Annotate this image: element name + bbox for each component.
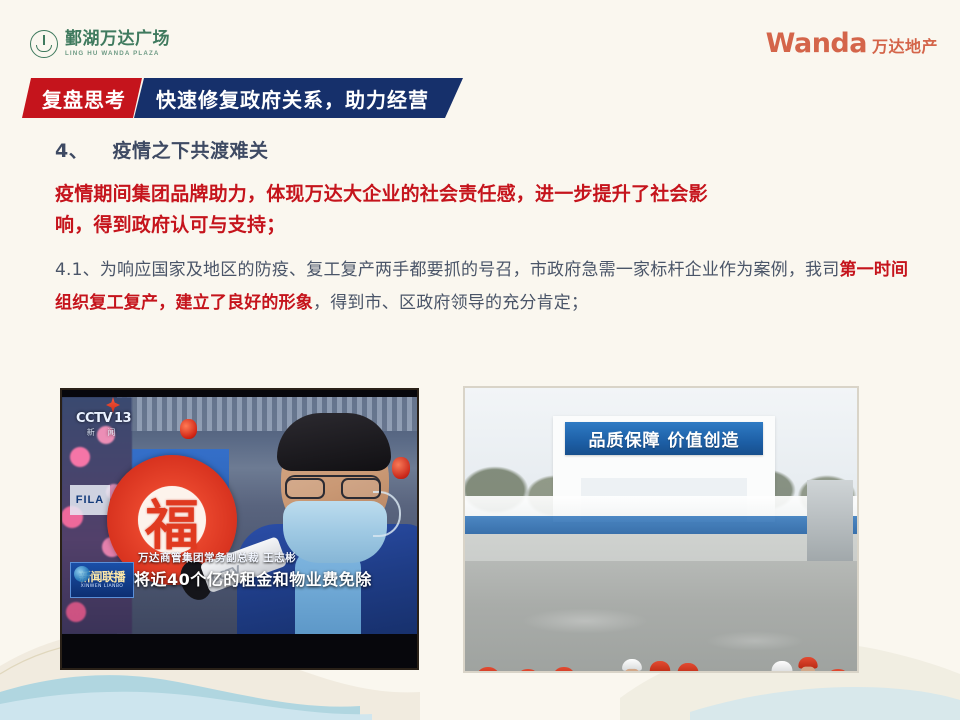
red-hard-hat-icon xyxy=(650,661,670,673)
wanda-logo: Wanda 万达地产 xyxy=(766,28,938,59)
interviewee-glasses xyxy=(285,475,381,496)
interviewee-hair xyxy=(277,413,391,471)
wanda-logo-en: Wanda xyxy=(766,28,867,59)
person-face xyxy=(653,671,668,673)
banner-title: 快速修复政府关系，助力经营 xyxy=(134,78,463,118)
lotus-circle-logo-icon xyxy=(30,30,58,58)
cctv-channel-bug: CCTV 13 新 闻 xyxy=(76,411,131,438)
tv-scene: FILA 福 CCTV xyxy=(62,397,417,634)
plaza-logo-cn: 鄞湖万达广场 xyxy=(65,31,170,48)
paragraph-part2: ，得到市、区政府领导的充分肯定； xyxy=(313,293,588,313)
cctv-logo-text: CCTV xyxy=(76,411,112,426)
plaza-logo-en: LING HU WANDA PLAZA xyxy=(65,51,170,57)
person-face xyxy=(774,671,789,673)
site-slogan-text: 品质保障 价值创造 xyxy=(589,426,740,451)
content-heading-number: 4、 xyxy=(55,140,88,162)
news-lower-third: 新闻联播 XINWEN LIANBO 万达商管集团常务副总裁 王志彬 将近40个… xyxy=(62,548,417,600)
lower-third-name: 万达商管集团常务副总裁 王志彬 xyxy=(138,550,296,565)
xinwen-lianbo-en: XINWEN LIANBO xyxy=(81,585,124,590)
banner-tag-label: 复盘思考 xyxy=(22,78,142,118)
fu-character: 福 xyxy=(138,486,206,554)
white-hard-hat-icon xyxy=(772,661,793,673)
lantern-icon xyxy=(180,419,197,439)
face-mask-icon xyxy=(801,671,815,673)
site-fence xyxy=(465,496,857,534)
content-heading: 4、 疫情之下共渡难关 xyxy=(55,136,915,163)
tv-letterbox-top xyxy=(62,390,417,397)
tv-letterbox-bottom xyxy=(62,634,417,668)
person-face xyxy=(801,667,815,673)
content-lead: 疫情期间集团品牌助力，体现万达大企业的社会责任感，进一步提升了社会影 响，得到政… xyxy=(55,179,915,242)
content-paragraph-41: 4.1、为响应国家及地区的防疫、复工复产两手都要抓的号召，市政府急需一家标杆企业… xyxy=(55,254,915,320)
construction-site-scene: 品质保障 价值创造 xyxy=(465,388,857,671)
content-heading-text: 疫情之下共渡难关 xyxy=(112,140,268,162)
cctv-channel-subtitle: 新 闻 xyxy=(76,427,131,438)
red-hard-hat-icon xyxy=(586,671,610,673)
content-lead-line2: 响，得到政府认可与支持； xyxy=(55,210,915,241)
equipment-cabinet xyxy=(807,480,853,572)
section-banner: 复盘思考 快速修复政府关系，助力经营 xyxy=(22,78,463,118)
site-ground xyxy=(465,561,857,671)
store-sign: FILA xyxy=(70,485,110,515)
photo-site-visit: 品质保障 价值创造 xyxy=(463,386,859,673)
cctv-channel-number: 13 xyxy=(114,411,131,426)
photo-cctv-interview: FILA 福 CCTV xyxy=(60,388,419,670)
slide-content: 4、 疫情之下共渡难关 疫情期间集团品牌助力，体现万达大企业的社会责任感，进一步… xyxy=(55,136,915,320)
plaza-logo: 鄞湖万达广场 LING HU WANDA PLAZA xyxy=(30,30,170,58)
wanda-logo-cn: 万达地产 xyxy=(872,33,938,57)
paragraph-part1: 为响应国家及地区的防疫、复工复产两手都要抓的号召，市政府急需一家标杆企业作为案例… xyxy=(100,260,840,280)
slide-root: 鄞湖万达广场 LING HU WANDA PLAZA Wanda 万达地产 复盘… xyxy=(0,0,960,720)
xinwen-lianbo-logo: 新闻联播 XINWEN LIANBO xyxy=(70,562,134,598)
globe-icon xyxy=(74,566,90,582)
lower-third-headline: 将近40个亿的租金和物业费免除 xyxy=(134,566,372,590)
content-lead-line1: 疫情期间集团品牌助力，体现万达大企业的社会责任感，进一步提升了社会影 xyxy=(55,179,915,210)
plaza-logo-text: 鄞湖万达广场 LING HU WANDA PLAZA xyxy=(65,31,170,57)
person-face xyxy=(625,669,639,673)
tv-screen: FILA 福 CCTV xyxy=(62,390,417,668)
cctv-bug-row: CCTV 13 xyxy=(76,411,131,426)
paragraph-index: 4.1、 xyxy=(55,260,100,280)
red-hard-hat-icon xyxy=(738,671,761,673)
lantern-icon xyxy=(392,457,410,479)
site-slogan-banner: 品质保障 价值创造 xyxy=(565,422,763,455)
